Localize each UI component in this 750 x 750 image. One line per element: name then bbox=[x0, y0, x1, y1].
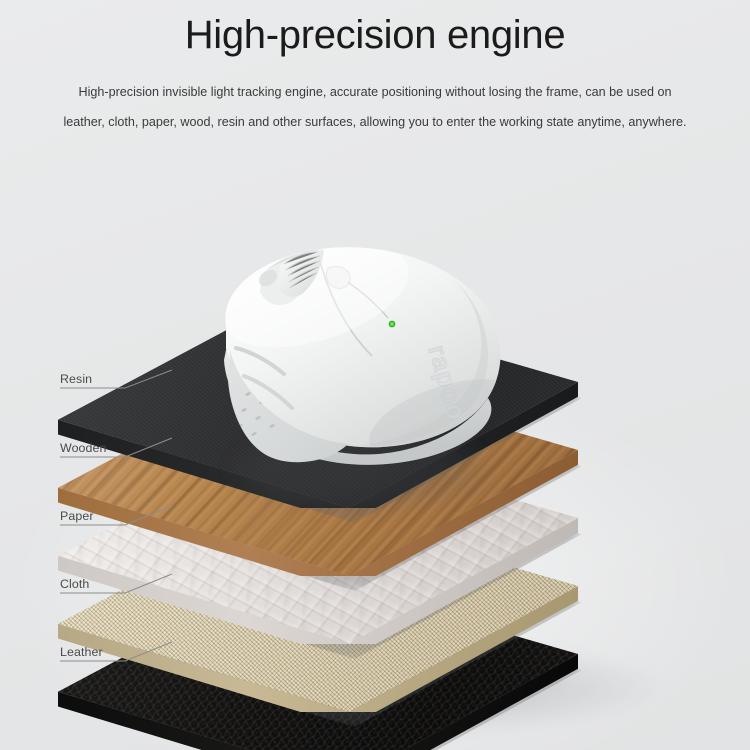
product-feature-page: High-precision engine High-precision inv… bbox=[0, 0, 750, 750]
led-indicator bbox=[389, 321, 396, 328]
material-label-paper[interactable]: Paper bbox=[60, 509, 94, 523]
material-label-wooden[interactable]: Wooden bbox=[60, 441, 107, 455]
mouse-illustration: rapoo bbox=[196, 230, 516, 500]
page-description: High-precision invisible light tracking … bbox=[63, 57, 687, 137]
page-title: High-precision engine bbox=[0, 0, 750, 57]
rapoo-mouse[interactable]: rapoo bbox=[196, 230, 526, 530]
material-label-leather[interactable]: Leather bbox=[60, 645, 103, 659]
exploded-materials-stage: rapoo Resin bbox=[0, 170, 750, 750]
header-block: High-precision engine High-precision inv… bbox=[0, 0, 750, 137]
material-label-resin[interactable]: Resin bbox=[60, 372, 92, 386]
material-label-cloth[interactable]: Cloth bbox=[60, 577, 89, 591]
